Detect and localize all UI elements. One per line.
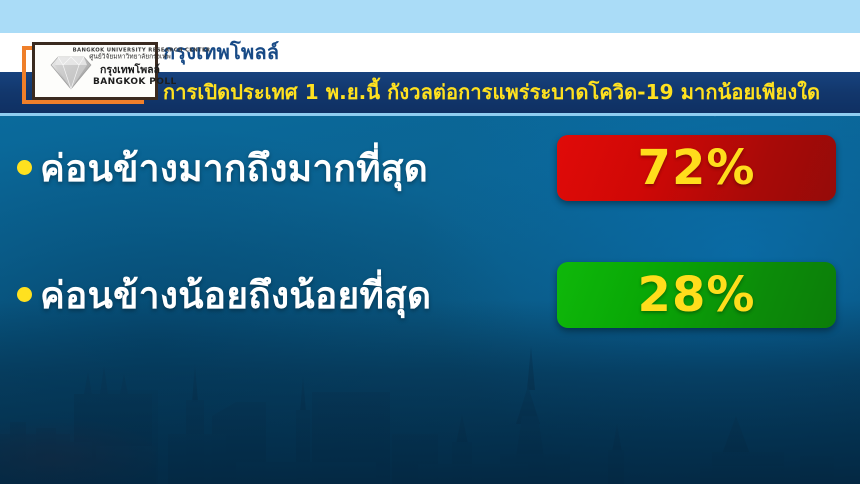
- bullet-icon: [17, 160, 32, 175]
- result-row: ค่อนข้างมากถึงมากที่สุด 72%: [0, 133, 860, 203]
- bangkok-poll-logo: BANGKOK UNIVERSITY RESEARCH CENTER ศูนย์…: [22, 46, 158, 104]
- headline-text: การเปิดประเทศ 1 พ.ย.นี้ กังวลต่อการแพร่ร…: [163, 76, 820, 109]
- result-label: ค่อนข้างมากถึงมากที่สุด: [40, 133, 428, 203]
- logo-line-th-center: ศูนย์วิจัยมหาวิทยาลัยกรุงเทพ: [75, 54, 186, 63]
- percentage-value: 72%: [638, 144, 756, 192]
- sky-strip: [0, 0, 860, 33]
- percentage-value: 28%: [638, 271, 756, 319]
- logo-text-block: BANGKOK UNIVERSITY RESEARCH CENTER ศูนย์…: [93, 47, 167, 88]
- logo-line-en-name: BANGKOK POLL: [93, 77, 167, 88]
- result-row: ค่อนข้างน้อยถึงน้อยที่สุด 28%: [0, 260, 860, 330]
- result-label: ค่อนข้างน้อยถึงน้อยที่สุด: [40, 260, 431, 330]
- navy-band-underline: [0, 113, 860, 116]
- poll-graphic: กรุงเทพโพลล์ การเปิดประเทศ 1 พ.ย.นี้ กัง…: [0, 0, 860, 484]
- logo-inner-frame: BANGKOK UNIVERSITY RESEARCH CENTER ศูนย์…: [32, 42, 158, 100]
- percentage-bar-high: 72%: [557, 135, 836, 201]
- percentage-bar-low: 28%: [557, 262, 836, 328]
- bullet-icon: [17, 287, 32, 302]
- logo-line-th-name: กรุงเทพโพลล์: [93, 64, 167, 77]
